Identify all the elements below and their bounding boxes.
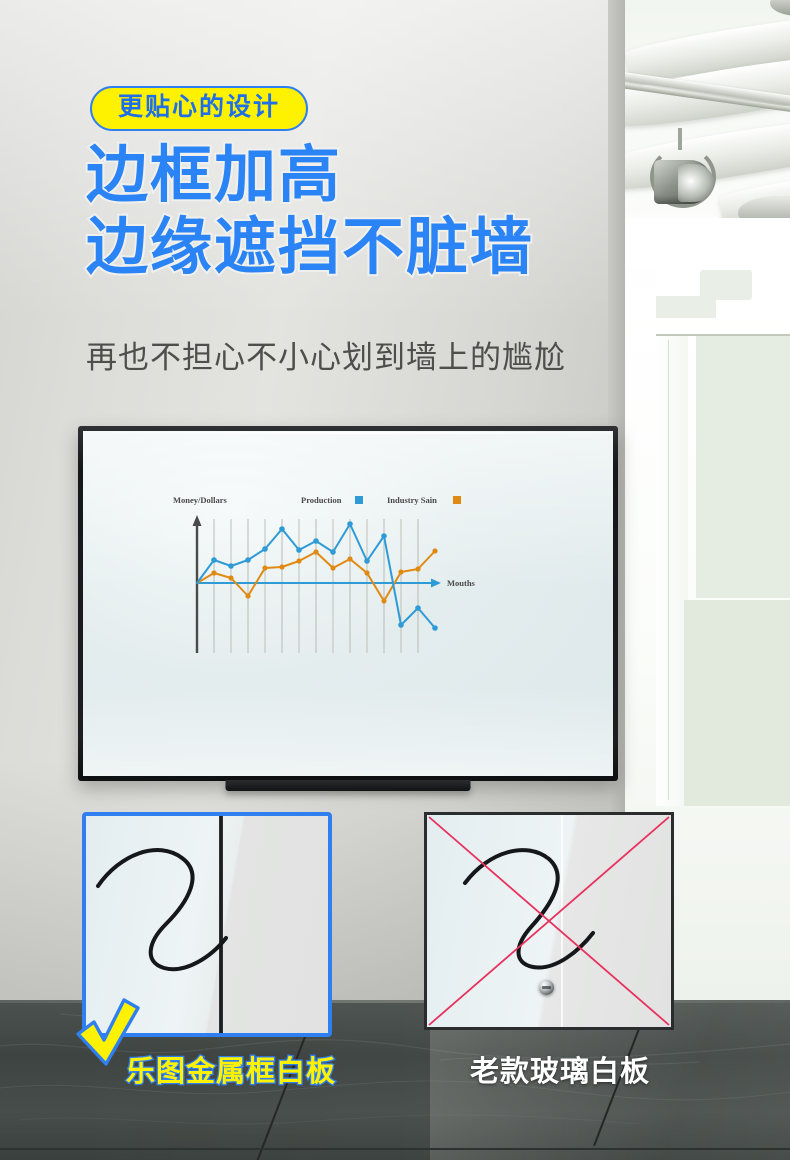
caption-right: 老款玻璃白板: [470, 1048, 650, 1090]
comparison-panel-left: [82, 812, 332, 1037]
office-panel: [656, 296, 716, 318]
office-seam: [668, 340, 669, 800]
office-partition: [684, 600, 790, 806]
x-mark-icon: [427, 815, 671, 1027]
headline-line-2: 边缘遮挡不脏墙: [86, 212, 626, 284]
whiteboard-frame: Money/Dollars Production Industry Sain: [78, 426, 618, 781]
pen-tray: [226, 780, 471, 791]
page-stage: 更贴心的设计 边框加高 边缘遮挡不脏墙 再也不担心不小心划到墙上的尴尬 Mone…: [0, 0, 790, 1160]
series-production: [197, 521, 438, 631]
pendant-lamp: [770, 0, 790, 16]
whiteboard-surface: Money/Dollars Production Industry Sain: [83, 431, 613, 776]
legend-swatch-industry: [453, 496, 461, 504]
office-partition: [696, 336, 790, 598]
x-axis-label: Mouths: [447, 578, 476, 588]
hero-whiteboard: Money/Dollars Production Industry Sain: [78, 426, 618, 781]
page-title: 边框加高 边缘遮挡不脏墙: [86, 140, 626, 284]
glass-board: [424, 812, 674, 1030]
floor-grout-line: [0, 1148, 790, 1150]
legend-swatch-production: [355, 496, 363, 504]
legend-label-production: Production: [301, 495, 342, 505]
series-industry-sain: [197, 548, 438, 603]
caption-left: 乐图金属框白板: [126, 1048, 336, 1090]
surface-glare: [83, 686, 613, 776]
line-chart: Money/Dollars Production Industry Sain: [169, 493, 499, 683]
comparison-panel-right: [424, 812, 674, 1030]
headline-line-1: 边框加高: [86, 140, 626, 212]
page-subtitle: 再也不担心不小心划到墙上的尴尬: [86, 332, 566, 377]
frame-highlight: [85, 432, 611, 434]
design-badge: 更贴心的设计: [90, 86, 308, 131]
y-axis-label: Money/Dollars: [173, 495, 228, 505]
legend-label-industry: Industry Sain: [387, 495, 437, 505]
